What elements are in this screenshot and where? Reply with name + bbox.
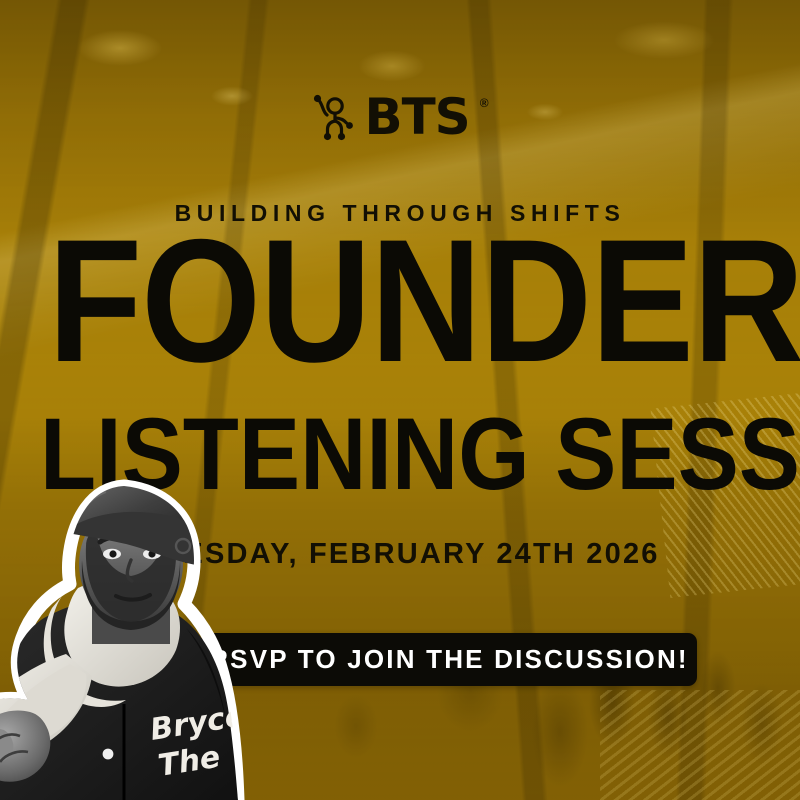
headline-line-1: FOUNDERS bbox=[48, 232, 752, 372]
bts-network-figure-icon bbox=[311, 93, 355, 141]
brand-wordmark: BTS bbox=[364, 92, 469, 142]
speaker-cutout-photo: Bryce The bbox=[0, 468, 304, 800]
poster-content: BTS ® BUILDING THROUGH SHIFTS FOUNDERS L… bbox=[0, 0, 800, 800]
brand-logo: BTS ® bbox=[0, 92, 800, 142]
event-flyer: BTS ® BUILDING THROUGH SHIFTS FOUNDERS L… bbox=[0, 0, 800, 800]
trademark-symbol: ® bbox=[480, 96, 489, 110]
